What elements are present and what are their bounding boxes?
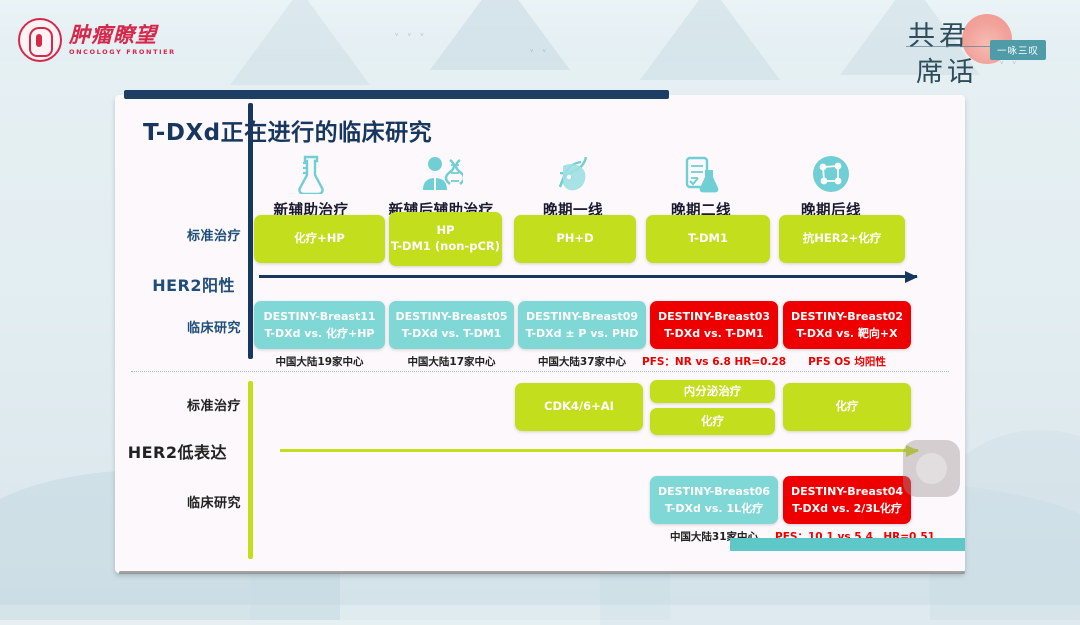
standard-therapy-box: PH+D <box>514 215 636 263</box>
molecule-node-icon <box>765 150 897 194</box>
show-title-block: 共君 席话 一咏三叹 <box>902 8 1022 80</box>
clipboard-flask-icon <box>635 150 767 194</box>
brand-text: 肿瘤瞭望 ONCOLOGY FRONTIER <box>69 25 176 56</box>
study-arm: T-DXd vs. 靶向+X <box>796 325 897 342</box>
clinical-study-box: DESTINY-Breast11 T-DXd vs. 化疗+HP <box>254 301 385 349</box>
standard-therapy-line: T-DM1 <box>688 231 728 247</box>
slide-card: T-DXd正在进行的临床研究 新辅助治疗 新辅后辅助治疗 <box>115 95 965 573</box>
row-label-clinical-study-positive: 临床研究 <box>133 317 241 336</box>
her2-low-progress-arrow <box>280 449 918 452</box>
oncology-seal-icon <box>18 18 62 62</box>
study-arm: T-DXd vs. T-DM1 <box>402 325 502 342</box>
flask-icon <box>245 150 377 194</box>
dna-helix-icon <box>507 150 639 194</box>
clinical-study-box: DESTINY-Breast03 T-DXd vs. T-DM1 <box>650 301 778 349</box>
standard-therapy-line: HP <box>436 223 454 239</box>
study-arm: T-DXd vs. 1L化疗 <box>665 500 763 517</box>
study-name: DESTINY-Breast06 <box>658 483 770 500</box>
doctor-dna-icon <box>375 150 507 194</box>
standard-therapy-line: T-DM1 (non-pCR) <box>391 239 500 255</box>
study-name: DESTINY-Breast11 <box>263 308 375 325</box>
clinical-study-box: DESTINY-Breast05 T-DXd vs. T-DM1 <box>389 301 514 349</box>
show-title-line2: 席话 <box>916 50 978 89</box>
brand-logo: 肿瘤瞭望 ONCOLOGY FRONTIER <box>18 18 176 62</box>
study-note: PFS：NR vs 6.8 HR=0.28 <box>642 354 786 369</box>
standard-therapy-line: CDK4/6+AI <box>544 399 614 415</box>
study-arm: T-DXd vs. T-DM1 <box>664 325 764 342</box>
study-name: DESTINY-Breast04 <box>791 483 903 500</box>
standard-therapy-line: 化疗+HP <box>294 231 345 247</box>
study-name: DESTINY-Breast09 <box>526 308 638 325</box>
study-name: DESTINY-Breast03 <box>658 308 770 325</box>
row-label-standard-therapy-low: 标准治疗 <box>133 395 241 414</box>
study-note: PFS OS 均阳性 <box>783 354 911 369</box>
standard-therapy-line: 化疗 <box>836 399 859 415</box>
study-arm: T-DXd vs. 2/3L化疗 <box>792 500 902 517</box>
study-note: 中国大陆17家中心 <box>389 354 514 369</box>
study-name: DESTINY-Breast05 <box>395 308 507 325</box>
background-birds-2: ᵛ ᵛ <box>530 48 549 58</box>
standard-therapy-line: 化疗 <box>701 414 724 430</box>
slide-card-shadow <box>119 571 965 574</box>
standard-therapy-line: 内分泌治疗 <box>684 384 742 400</box>
brand-name-cn: 肿瘤瞭望 <box>69 25 176 46</box>
bottom-teal-bar <box>730 538 965 551</box>
column-header-post-neoadjuvant: 新辅后辅助治疗 <box>375 150 507 220</box>
her2-positive-vertical-rule <box>248 103 253 359</box>
section-label-her2-low: HER2低表达 <box>119 439 227 463</box>
standard-therapy-box: CDK4/6+AI <box>515 383 643 431</box>
row-label-clinical-study-low: 临床研究 <box>133 492 241 511</box>
study-note: 中国大陆37家中心 <box>518 354 646 369</box>
background-peak-3 <box>640 0 780 80</box>
row-label-standard-therapy-positive: 标准治疗 <box>133 225 241 244</box>
background-peak-2 <box>430 0 570 70</box>
section-label-her2-positive: HER2阳性 <box>127 272 235 296</box>
clinical-study-box: DESTINY-Breast04 T-DXd vs. 2/3L化疗 <box>783 476 911 524</box>
standard-therapy-box: 化疗 <box>783 383 911 431</box>
clinical-study-box: DESTINY-Breast06 T-DXd vs. 1L化疗 <box>650 476 778 524</box>
brand-name-en: ONCOLOGY FRONTIER <box>69 49 176 56</box>
standard-therapy-box: T-DM1 <box>646 215 770 263</box>
study-name: DESTINY-Breast02 <box>791 308 903 325</box>
her2-positive-progress-arrow <box>259 275 917 278</box>
show-title-line1: 共君 <box>908 14 970 53</box>
standard-therapy-box: 内分泌治疗 <box>650 380 775 403</box>
standard-therapy-line: 抗HER2+化疗 <box>803 231 881 247</box>
clinical-study-box: DESTINY-Breast09 T-DXd ± P vs. PHD <box>518 301 646 349</box>
standard-therapy-line: PH+D <box>556 231 593 247</box>
standard-therapy-box: 抗HER2+化疗 <box>779 215 905 263</box>
standard-therapy-box: 化疗 <box>650 408 775 435</box>
section-divider <box>131 371 949 372</box>
column-header-advanced-2l: 晚期二线 <box>635 150 767 220</box>
show-badge: 一咏三叹 <box>990 40 1046 60</box>
background-peak-1 <box>230 0 370 85</box>
overlay-watermark-badge <box>903 440 960 497</box>
background-birds-1: ᵛ ᵛ ᵛ <box>395 32 427 42</box>
standard-therapy-box: 化疗+HP <box>254 215 385 263</box>
standard-therapy-box: HP T-DM1 (non-pCR) <box>389 212 502 266</box>
column-header-neoadjuvant: 新辅助治疗 <box>245 150 377 220</box>
column-header-advanced-later: 晚期后线 <box>765 150 897 220</box>
study-note: 中国大陆19家中心 <box>254 354 385 369</box>
page-title: T-DXd正在进行的临床研究 <box>143 113 432 147</box>
study-arm: T-DXd ± P vs. PHD <box>526 325 639 342</box>
clinical-study-box: DESTINY-Breast02 T-DXd vs. 靶向+X <box>783 301 911 349</box>
study-arm: T-DXd vs. 化疗+HP <box>265 325 375 342</box>
her2-low-vertical-rule <box>248 381 253 559</box>
slide-top-accent-bar <box>124 90 669 99</box>
column-header-advanced-1l: 晚期一线 <box>507 150 639 220</box>
